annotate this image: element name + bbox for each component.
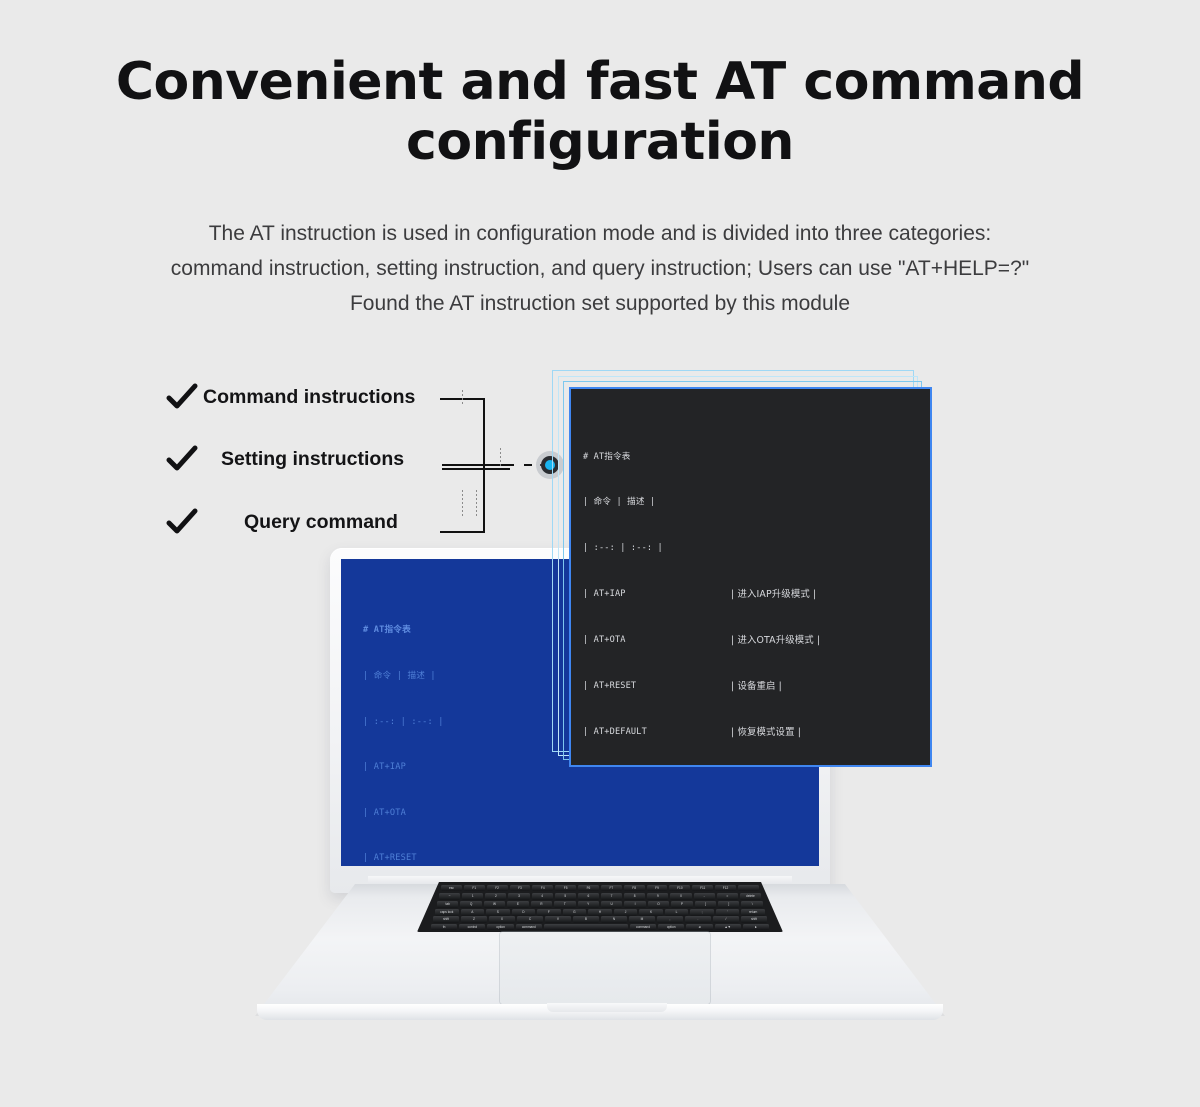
keyboard-key[interactable]: shift <box>741 916 767 923</box>
keyboard-key[interactable]: 6 <box>578 893 599 900</box>
keyboard-key[interactable]: G <box>563 909 587 916</box>
keyboard-key[interactable]: 2 <box>485 893 506 900</box>
keyboard-key[interactable]: W <box>484 901 505 908</box>
keyboard-row: fncontroloptioncommandcommandoption◄▲▼► <box>431 924 769 930</box>
dark-row-desc: | 设备重启 | <box>731 679 782 694</box>
keyboard-key[interactable]: N <box>601 916 627 923</box>
keyboard-key[interactable]: ~ <box>439 893 460 900</box>
dark-row-cmd: | AT+RESET <box>583 679 731 694</box>
keyboard-key[interactable]: J <box>614 909 638 916</box>
keyboard-key[interactable]: M <box>629 916 655 923</box>
connector-tick <box>462 390 463 404</box>
keyboard-key[interactable]: Y <box>578 901 599 908</box>
connector-dash-gap <box>514 464 524 466</box>
laptop-keyboard[interactable]: escF1F2F3F4F5F6F7F8F9F10F11F12~123456789… <box>430 884 770 930</box>
bullet-label: Command instructions <box>203 386 415 409</box>
keyboard-key[interactable]: control <box>459 924 485 930</box>
blue-row-cmd: | AT+RESET <box>363 851 535 866</box>
keyboard-key[interactable]: / <box>713 916 739 923</box>
dark-section1-divider-row: | :--: | :--: | <box>583 541 930 556</box>
keyboard-key[interactable]: tab <box>437 901 458 908</box>
keyboard-key[interactable]: F8 <box>624 885 645 891</box>
keyboard-key[interactable]: V <box>545 916 571 923</box>
dark-section1-row: | AT+OTA| 进入OTA升级模式 | <box>583 633 930 648</box>
blue-section1-row: | AT+RESET <box>363 851 819 866</box>
dark-row-cmd: | AT+DEFAULT <box>583 725 731 740</box>
keyboard-key[interactable]: 9 <box>647 893 668 900</box>
bullet-item-query-command: Query command <box>165 505 398 539</box>
page-subtitle-line-3: Found the AT instruction set supported b… <box>90 286 1110 321</box>
keyboard-key[interactable]: ; <box>690 909 714 916</box>
connector-tick <box>500 448 501 466</box>
keyboard-key[interactable]: F <box>537 909 561 916</box>
keyboard-row: ~1234567890-=delete <box>439 893 761 900</box>
page-subtitle-line-1: The AT instruction is used in configurat… <box>90 216 1110 251</box>
check-icon <box>165 505 199 539</box>
keyboard-key[interactable]: [ <box>695 901 716 908</box>
popup-code: # AT指令表 | 命令 | 描述 | | :--: | :--: | | AT… <box>571 389 930 767</box>
keyboard-key[interactable]: F12 <box>715 885 736 891</box>
keyboard-key[interactable]: B <box>573 916 599 923</box>
dark-section1-row: | AT+RESET| 设备重启 | <box>583 679 930 694</box>
keyboard-key[interactable]: ◄ <box>686 924 712 930</box>
dark-section1-heading: # AT指令表 <box>583 450 930 465</box>
keyboard-key[interactable]: 0 <box>670 893 691 900</box>
dark-row-desc: | 进入OTA升级模式 | <box>731 633 820 648</box>
keyboard-key[interactable]: shift <box>433 916 459 923</box>
bullet-item-command-instructions: Command instructions <box>165 380 415 414</box>
keyboard-key[interactable]: P <box>671 901 692 908</box>
laptop-trackpad[interactable] <box>500 932 710 1004</box>
dark-row-cmd: | AT+OTA <box>583 633 731 648</box>
keyboard-key[interactable]: Q <box>460 901 481 908</box>
keyboard-key[interactable]: 1 <box>462 893 483 900</box>
dark-row-desc: | 进入IAP升级模式 | <box>731 587 816 602</box>
keyboard-key[interactable]: ► <box>743 924 769 930</box>
keyboard-key[interactable]: F11 <box>692 885 713 891</box>
keyboard-key[interactable]: ] <box>718 901 739 908</box>
keyboard-key[interactable]: caps lock <box>435 909 459 916</box>
keyboard-key[interactable]: ' <box>716 909 740 916</box>
connector-tick <box>462 490 463 516</box>
keyboard-key[interactable]: - <box>694 893 715 900</box>
at-command-popup: # AT指令表 | 命令 | 描述 | | :--: | :--: | | AT… <box>552 370 924 760</box>
keyboard-key[interactable]: option <box>658 924 684 930</box>
page-title-line-2: configuration <box>100 112 1100 172</box>
keyboard-key[interactable]: F9 <box>647 885 668 891</box>
blue-row-cmd: | AT+OTA <box>363 806 535 821</box>
keyboard-key[interactable]: return <box>741 909 765 916</box>
keyboard-key[interactable]: 8 <box>624 893 645 900</box>
keyboard-key[interactable]: 7 <box>601 893 622 900</box>
keyboard-key[interactable]: 3 <box>508 893 529 900</box>
keyboard-key[interactable]: K <box>639 909 663 916</box>
connector-bottom-line <box>440 531 485 533</box>
keyboard-row: escF1F2F3F4F5F6F7F8F9F10F11F12 <box>441 885 759 891</box>
keyboard-key[interactable] <box>738 885 759 891</box>
keyboard-key[interactable]: S <box>486 909 510 916</box>
keyboard-key[interactable]: delete <box>740 893 761 900</box>
keyboard-key[interactable]: F2 <box>487 885 508 891</box>
connector-mid-line-secondary <box>442 468 510 470</box>
popup-terminal: # AT指令表 | 命令 | 描述 | | :--: | :--: | | AT… <box>569 387 932 767</box>
keyboard-key[interactable] <box>544 924 628 930</box>
keyboard-key[interactable]: 4 <box>532 893 553 900</box>
bullet-item-setting-instructions: Setting instructions <box>165 442 404 476</box>
keyboard-row: tabQWERTYUIOP[]\ <box>437 901 763 908</box>
keyboard-key[interactable]: = <box>717 893 738 900</box>
keyboard-key[interactable]: command <box>630 924 656 930</box>
keyboard-key[interactable]: . <box>685 916 711 923</box>
page-subtitle: The AT instruction is used in configurat… <box>90 216 1110 321</box>
dark-row-desc: | 恢复模式设置 | <box>731 725 801 740</box>
check-icon <box>165 442 199 476</box>
check-icon <box>165 380 199 414</box>
dark-section1-row: | AT+IAP| 进入IAP升级模式 | <box>583 587 930 602</box>
keyboard-key[interactable]: option <box>487 924 513 930</box>
keyboard-key[interactable]: E <box>507 901 528 908</box>
laptop-front-notch <box>547 1003 667 1012</box>
page-root: Convenient and fast AT command configura… <box>0 0 1200 1107</box>
keyboard-key[interactable]: F10 <box>669 885 690 891</box>
keyboard-key[interactable]: T <box>554 901 575 908</box>
blue-section1-row: | AT+OTA <box>363 806 819 821</box>
keyboard-key[interactable]: , <box>657 916 683 923</box>
keyboard-key[interactable]: O <box>648 901 669 908</box>
keyboard-key[interactable]: \ <box>741 901 762 908</box>
keyboard-key[interactable]: U <box>601 901 622 908</box>
keyboard-row: caps lockASDFGHJKL;'return <box>435 909 765 916</box>
keyboard-key[interactable]: R <box>531 901 552 908</box>
keyboard-key[interactable]: command <box>516 924 542 930</box>
keyboard-key[interactable]: Z <box>461 916 487 923</box>
keyboard-key[interactable]: F5 <box>555 885 576 891</box>
keyboard-key[interactable]: C <box>517 916 543 923</box>
page-title: Convenient and fast AT command configura… <box>100 52 1100 173</box>
keyboard-key[interactable]: ▲▼ <box>715 924 741 930</box>
page-subtitle-line-2: command instruction, setting instruction… <box>90 251 1110 286</box>
keyboard-key[interactable]: fn <box>431 924 457 930</box>
keyboard-key[interactable]: esc <box>441 885 462 891</box>
keyboard-key[interactable]: F1 <box>464 885 485 891</box>
keyboard-row: shiftZXCVBNM,./shift <box>433 916 767 923</box>
page-title-line-1: Convenient and fast AT command <box>100 52 1100 112</box>
keyboard-key[interactable]: A <box>461 909 485 916</box>
keyboard-key[interactable]: F4 <box>532 885 553 891</box>
dark-section1-header-row: | 命令 | 描述 | <box>583 495 930 510</box>
keyboard-key[interactable]: H <box>588 909 612 916</box>
bullet-label: Query command <box>244 511 398 534</box>
keyboard-key[interactable]: I <box>624 901 645 908</box>
keyboard-key[interactable]: F7 <box>601 885 622 891</box>
keyboard-key[interactable]: L <box>665 909 689 916</box>
bullet-label: Setting instructions <box>221 448 404 471</box>
laptop-base: escF1F2F3F4F5F6F7F8F9F10F11F12~123456789… <box>255 884 945 1030</box>
keyboard-key[interactable]: D <box>512 909 536 916</box>
keyboard-key[interactable]: F6 <box>578 885 599 891</box>
keyboard-key[interactable]: 5 <box>555 893 576 900</box>
keyboard-key[interactable]: X <box>489 916 515 923</box>
keyboard-key[interactable]: F3 <box>510 885 531 891</box>
connector-tick <box>476 490 477 516</box>
dark-section1-row: | AT+DEFAULT| 恢复模式设置 | <box>583 725 930 740</box>
blue-row-cmd: | AT+IAP <box>363 760 535 775</box>
dark-row-cmd: | AT+IAP <box>583 587 731 602</box>
